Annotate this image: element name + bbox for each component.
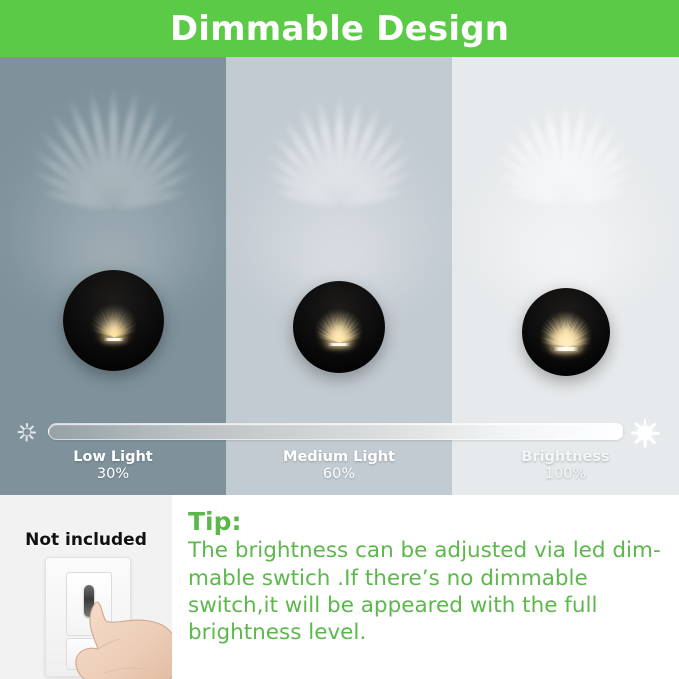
sun-ray: [30, 425, 34, 429]
sun-ray: [634, 438, 640, 444]
light-ray: [112, 186, 189, 215]
light-ray: [500, 135, 569, 208]
light-ray: [35, 127, 116, 213]
light-ray: [562, 135, 631, 208]
light-ray: [264, 150, 342, 211]
label-low-light-percent: 30%: [0, 466, 226, 483]
label-brightness-name: Brightness: [452, 449, 679, 466]
label-medium-light: Medium Light 60%: [226, 449, 452, 495]
brightness-slider[interactable]: [0, 415, 679, 449]
light-ray: [110, 127, 191, 213]
wall-light-fan-medium: [240, 95, 438, 207]
light-ray: [561, 103, 589, 206]
wall-halo-glow: [226, 109, 452, 299]
lamp-low-light: [63, 270, 164, 371]
light-ray: [335, 97, 365, 208]
header-banner: Dimmable Design: [0, 0, 679, 57]
sun-ray: [650, 438, 656, 444]
dimmer-switch-photo: Not included: [0, 495, 172, 679]
light-ray: [337, 168, 414, 211]
wall-halo-glow: [0, 97, 226, 297]
light-ray: [109, 109, 178, 212]
sun-ray: [631, 432, 638, 435]
brightness-labels: Low Light 30% Medium Light 60% Brightnes…: [0, 449, 679, 495]
sun-ray: [26, 437, 28, 442]
light-ray: [502, 184, 567, 209]
not-included-caption: Not included: [0, 530, 172, 550]
label-brightness-percent: 100%: [452, 466, 679, 483]
light-ray: [336, 150, 414, 211]
tip-title: Tip:: [188, 509, 663, 535]
light-ray: [47, 109, 116, 212]
pointing-hand-icon: [60, 587, 172, 679]
light-ray: [314, 97, 344, 208]
sun-ray: [20, 435, 24, 439]
light-ray: [29, 147, 115, 214]
tip-body: The brightness can be adjusted via led d…: [188, 537, 663, 646]
light-ray: [264, 168, 341, 211]
light-ray: [336, 132, 409, 210]
light-ray: [269, 132, 342, 210]
label-low-light-name: Low Light: [0, 449, 226, 466]
sun-ray: [18, 431, 23, 433]
product-infographic: Dimmable Design: [0, 0, 679, 679]
sun-ray: [650, 422, 656, 428]
lamp-slit-medium: [327, 343, 351, 346]
sun-ray: [32, 431, 37, 433]
light-ray: [109, 87, 141, 211]
wall-halo-glow: [452, 115, 679, 297]
light-ray: [338, 185, 407, 212]
sun-large-icon: [628, 416, 662, 450]
lamp-slit-low: [103, 338, 125, 341]
light-ray: [109, 85, 118, 210]
light-ray: [561, 101, 570, 205]
slider-track[interactable]: [48, 423, 624, 440]
light-ray: [335, 104, 383, 208]
label-medium-light-percent: 60%: [226, 466, 452, 483]
light-ray: [510, 121, 569, 208]
sun-disc: [638, 426, 653, 441]
tip-section: Not included: [0, 495, 679, 679]
light-ray: [495, 152, 568, 209]
lamp-slit-bright: [552, 347, 580, 351]
wall-light-fan-low: [8, 85, 218, 210]
light-ray: [562, 121, 621, 208]
light-ray: [524, 110, 569, 207]
label-brightness: Brightness 100%: [452, 449, 679, 495]
sun-ray: [644, 419, 647, 426]
sun-ray: [634, 422, 640, 428]
sun-disc: [23, 428, 32, 437]
light-ray: [280, 116, 343, 209]
light-ray: [335, 116, 398, 209]
sun-ray: [653, 432, 660, 435]
light-ray: [542, 103, 570, 206]
page-title: Dimmable Design: [170, 12, 509, 46]
light-ray: [561, 110, 606, 207]
label-medium-light-name: Medium Light: [226, 449, 452, 466]
light-ray: [109, 96, 162, 212]
label-low-light: Low Light 30%: [0, 449, 226, 495]
light-ray: [271, 185, 340, 212]
sun-ray: [26, 423, 28, 428]
lamp-medium-light: [293, 281, 385, 373]
sun-ray: [30, 435, 34, 439]
light-ray: [335, 95, 344, 207]
sun-ray: [20, 425, 24, 429]
lamp-full-brightness: [522, 288, 610, 376]
light-ray: [564, 184, 629, 209]
light-ray: [37, 186, 114, 215]
wall-light-fan-bright: [473, 101, 659, 205]
light-ray: [564, 168, 635, 209]
light-ray: [65, 96, 118, 212]
sun-small-icon: [16, 421, 38, 443]
tip-text-block: Tip: The brightness can be adjusted via …: [172, 495, 679, 679]
sun-ray: [644, 441, 647, 448]
light-ray: [86, 87, 118, 211]
light-ray: [295, 104, 343, 208]
light-ray: [111, 167, 196, 214]
light-ray: [110, 147, 196, 214]
light-ray: [496, 168, 567, 209]
light-ray: [30, 167, 115, 214]
light-ray: [563, 152, 636, 209]
